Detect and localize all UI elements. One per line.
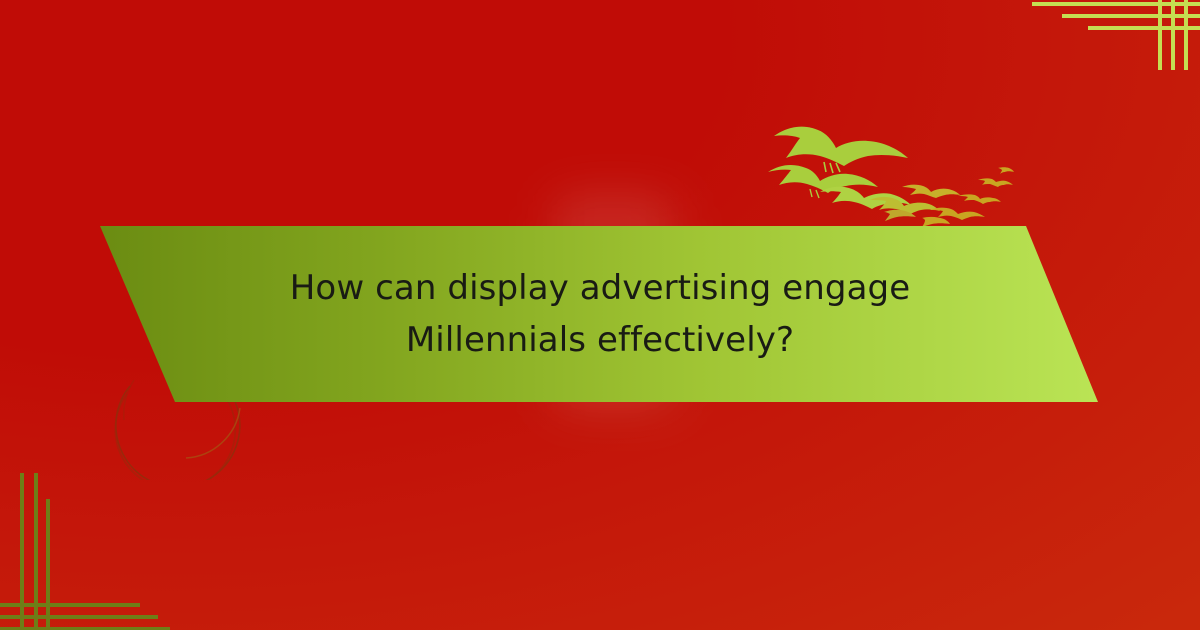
headline-line-1: How can display advertising engage [290, 266, 911, 310]
banner-headline: How can display advertising engage Mille… [180, 226, 1020, 402]
headline-line-2: Millennials effectively? [406, 318, 794, 362]
poster-canvas: How can display advertising engage Mille… [0, 0, 1200, 630]
